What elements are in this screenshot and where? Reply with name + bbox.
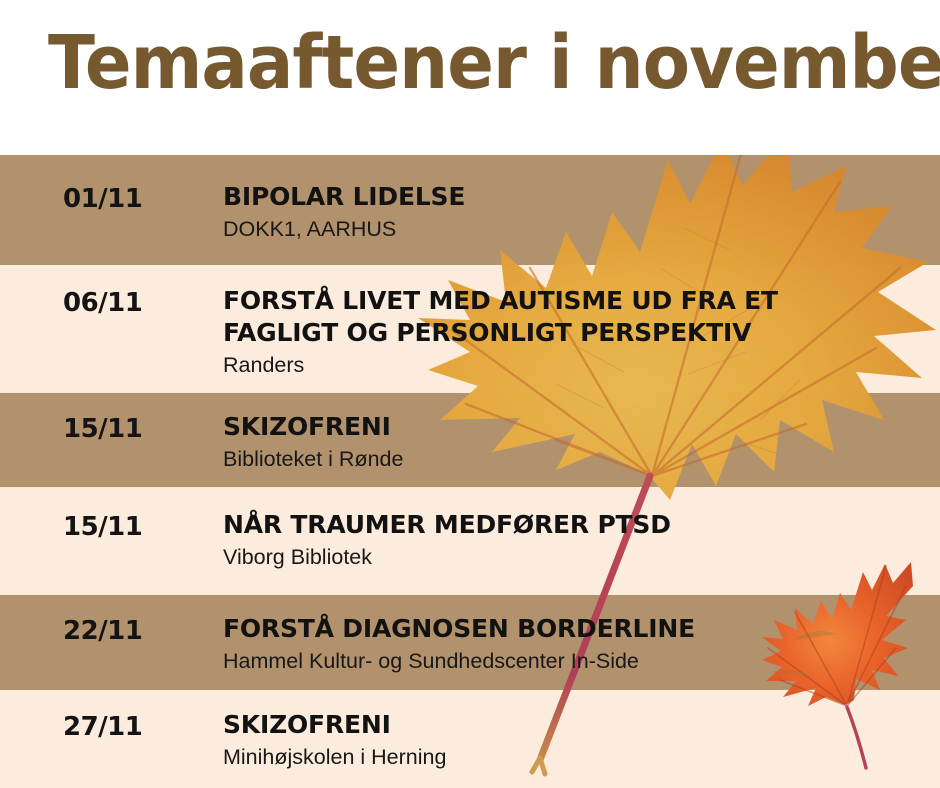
event-venue: Viborg Bibliotek (223, 544, 930, 572)
event-title-line1: FORSTÅ DIAGNOSEN BORDERLINE (223, 614, 695, 643)
event-date: 15/11 (63, 414, 142, 444)
event-title-line1: SKIZOFRENI (223, 412, 391, 441)
event-title: SKIZOFRENI (223, 709, 930, 741)
event-date: 22/11 (63, 616, 142, 646)
poster: Temaaftener i november 01/11 BIPOLAR LID… (0, 0, 940, 788)
header: Temaaftener i november (0, 0, 940, 155)
event-venue: DOKK1, AARHUS (223, 216, 930, 244)
event-venue: Randers (223, 352, 930, 380)
event-body: FORSTÅ LIVET MED AUTISME UD FRA ET FAGLI… (223, 285, 930, 380)
event-title: NÅR TRAUMER MEDFØRER PTSD (223, 509, 930, 541)
event-venue: Minihøjskolen i Herning (223, 744, 930, 772)
page-title: Temaaftener i november (48, 26, 940, 100)
event-venue: Biblioteket i Rønde (223, 446, 930, 474)
event-body: SKIZOFRENI Minihøjskolen i Herning (223, 709, 930, 772)
event-title-line1: NÅR TRAUMER MEDFØRER PTSD (223, 510, 671, 539)
event-body: SKIZOFRENI Biblioteket i Rønde (223, 411, 930, 474)
event-body: NÅR TRAUMER MEDFØRER PTSD Viborg Bibliot… (223, 509, 930, 572)
event-title-line1: SKIZOFRENI (223, 710, 391, 739)
event-venue: Hammel Kultur- og Sundhedscenter In-Side (223, 648, 930, 676)
event-title: SKIZOFRENI (223, 411, 930, 443)
event-title-line1: FORSTÅ LIVET MED AUTISME UD FRA ET (223, 286, 778, 315)
event-date: 06/11 (63, 288, 142, 318)
event-date: 15/11 (63, 512, 142, 542)
event-date: 27/11 (63, 712, 142, 742)
event-date: 01/11 (63, 184, 142, 214)
event-body: BIPOLAR LIDELSE DOKK1, AARHUS (223, 181, 930, 244)
event-body: FORSTÅ DIAGNOSEN BORDERLINE Hammel Kultu… (223, 613, 930, 676)
event-title-line2: FAGLIGT OG PERSONLIGT PERSPEKTIV (223, 317, 930, 349)
event-title-line1: BIPOLAR LIDELSE (223, 182, 465, 211)
event-title: BIPOLAR LIDELSE (223, 181, 930, 213)
event-title: FORSTÅ DIAGNOSEN BORDERLINE (223, 613, 930, 645)
event-title: FORSTÅ LIVET MED AUTISME UD FRA ET FAGLI… (223, 285, 930, 349)
